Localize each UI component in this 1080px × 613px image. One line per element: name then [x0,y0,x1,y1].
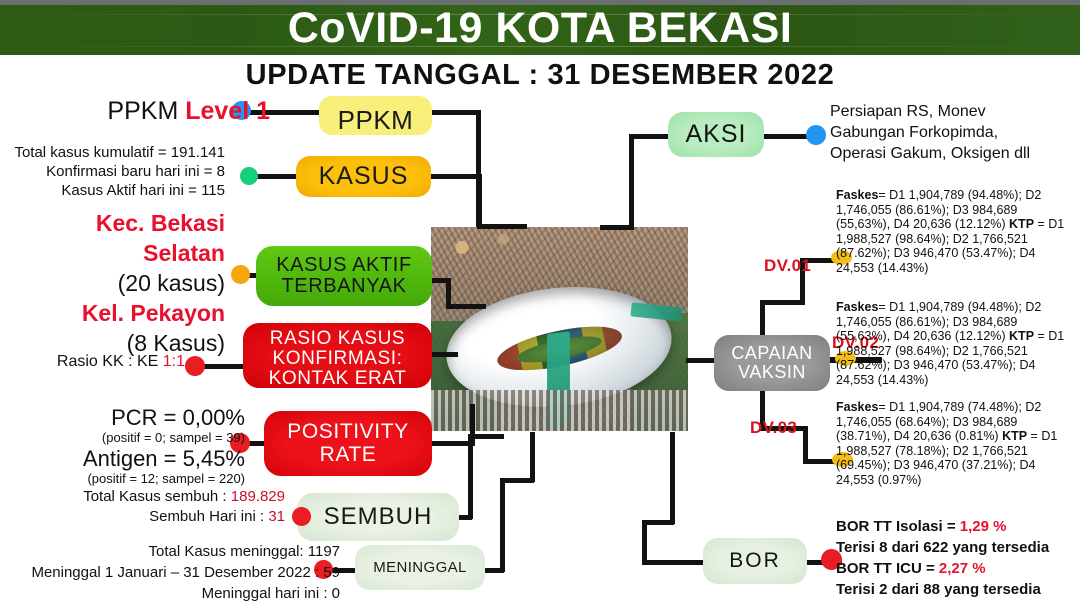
positivity-stats-block: PCR = 0,00% (positif = 0; sampel = 39) A… [10,405,245,487]
sembuh-today-label: Sembuh Hari ini : [149,508,268,525]
page-title: CoVID-19 KOTA BEKASI [0,4,1080,52]
node-sembuh[interactable]: SEMBUH [297,493,459,541]
connector-kasus-aktif-to-photo [446,304,486,309]
vaccine-faskes-heading: Faskes [836,400,878,414]
bullet-dot-aksi [806,125,826,145]
connector-bor-to-photo [670,432,675,524]
aksi-detail-block: Persiapan RS, Monev Gabungan Forkopimda,… [830,101,1080,164]
vaccine-faskes-heading: Faskes [836,188,878,202]
sembuh-total-line: Total Kasus sembuh : 189.829 [10,487,285,507]
sembuh-total-value: 189.829 [231,488,285,505]
meninggal-stats-block: Total Kasus meninggal: 1197 Meninggal 1 … [10,541,340,604]
bor-icu-label: BOR TT ICU = [836,560,939,577]
connector-aksi-left [629,134,672,139]
ppkm-prefix-text: PPKM [107,97,185,125]
bor-isolasi-value: 1,29 % [960,518,1007,535]
connector-bor-up [642,520,647,565]
node-positivity-rate[interactable]: POSITIVITY RATE [264,411,432,476]
connector-rasio [198,364,246,369]
sembuh-today-value: 31 [268,508,285,525]
node-capaian-vaksin[interactable]: CAPAIAN VAKSIN [714,335,830,391]
connector-kasus-down [477,174,482,229]
node-kasus-aktif-terbanyak[interactable]: KASUS AKTIF TERBANYAK [256,246,432,306]
node-bor[interactable]: BOR [703,538,807,584]
kasus-stat-line: Total kasus kumulatif = 191.141 [10,143,225,162]
bullet-dot-kasus [240,167,258,185]
rasio-value: 1:1 [163,353,185,370]
kecamatan-name: Kec. Bekasi Selatan [10,208,225,268]
node-kasus[interactable]: KASUS [296,156,431,197]
aksi-detail-line: Gabungan Forkopimda, [830,122,1080,143]
connector-sembuh-to-photo [468,434,504,439]
sembuh-stats-block: Total Kasus sembuh : 189.829 Sembuh Hari… [10,487,285,527]
connector-meninggal-elbow [500,478,534,483]
stadium-aerial-photo [431,227,688,431]
connector-ppkm-right [430,110,480,115]
pcr-label: PCR = 0,00% [10,405,245,430]
bor-detail-block: BOR TT Isolasi = 1,29 % Terisi 8 dari 62… [836,516,1080,600]
sembuh-today-line: Sembuh Hari ini : 31 [10,507,285,527]
connector-sembuh-up [468,434,473,519]
connector-aksi-to-photo [600,225,634,230]
node-ppkm[interactable]: PPKM [319,96,432,135]
vaccine-ktp-heading: KTP [1009,217,1034,231]
connector-dv01-up [760,300,765,338]
connector-meninggal-to-photo [530,432,535,482]
vaccine-block-dv02: Faskes= D1 1,904,789 (94.48%); D2 1,746,… [836,300,1066,387]
update-date-subtitle: UPDATE TANGGAL : 31 DESEMBER 2022 [0,58,1080,92]
vaccine-block-dv01: Faskes= D1 1,904,789 (94.48%); D2 1,746,… [836,188,1066,275]
aksi-detail-line: Persiapan RS, Monev [830,101,1080,122]
connector-kasus-into-photo [477,224,527,229]
dv03-label: DV.03 [750,418,797,438]
connector-kasus [253,174,298,179]
dv01-label: DV.01 [764,256,811,276]
vaccine-block-dv03: Faskes= D1 1,904,789 (74.48%); D2 1,746,… [836,400,1066,487]
rasio-kk-ke-label: Rasio KK : KE 1:1 [10,352,185,372]
aksi-detail-line: Operasi Gakum, Oksigen dll [830,143,1080,164]
kasus-stats-block: Total kasus kumulatif = 191.141 Konfirma… [10,143,225,200]
bor-icu-value: 2,27 % [939,560,986,577]
bor-isolasi-line: BOR TT Isolasi = 1,29 % [836,516,1080,537]
kasus-aktif-location-block: Kec. Bekasi Selatan (20 kasus) Kel. Peka… [10,208,225,358]
antigen-label: Antigen = 5,45% [10,446,245,471]
infographic-canvas: CoVID-19 KOTA BEKASI UPDATE TANGGAL : 31… [0,0,1080,613]
sembuh-total-label: Total Kasus sembuh : [83,488,231,505]
connector-bor-left [642,560,704,565]
vaccine-faskes-heading: Faskes [836,300,878,314]
antigen-sample-detail: (positif = 12; sampel = 220) [10,471,245,487]
kelurahan-name: Kel. Pekayon [10,298,225,328]
meninggal-period-line: Meninggal 1 Januari – 31 Desember 2022 :… [10,562,340,583]
kasus-stat-line: Kasus Aktif hari ini = 115 [10,181,225,200]
connector-aksi-down [629,134,634,229]
bor-icu-line: BOR TT ICU = 2,27 % [836,558,1080,579]
vaccine-ktp-heading: KTP [1009,329,1034,343]
bor-isolasi-label: BOR TT Isolasi = [836,518,960,535]
pcr-sample-detail: (positif = 0; sampel = 39) [10,430,245,446]
meninggal-total-line: Total Kasus meninggal: 1197 [10,541,340,562]
node-rasio-kasus-konfirmasi[interactable]: RASIO KASUS KONFIRMASI: KONTAK ERAT [243,323,432,388]
bor-isolasi-detail: Terisi 8 dari 622 yang tersedia [836,537,1080,558]
bullet-dot-rasio [185,356,205,376]
connector-meninggal-up [500,478,505,572]
node-aksi[interactable]: AKSI [668,112,764,157]
meninggal-today-line: Meninggal hari ini : 0 [10,583,340,604]
ppkm-level-label: PPKM Level 1 [60,96,270,126]
connector-aksi-right [762,134,812,139]
vaccine-ktp-heading: KTP [1002,429,1027,443]
kasus-stat-line: Konfirmasi baru hari ini = 8 [10,162,225,181]
rasio-prefix-text: Rasio KK : KE [57,353,163,370]
node-meninggal[interactable]: MENINGGAL [355,545,485,590]
ppkm-level-value: Level 1 [185,97,270,125]
bullet-dot-sembuh [292,507,311,526]
kecamatan-case-count: (20 kasus) [10,268,225,298]
connector-dv01-right [760,300,805,305]
bor-icu-detail: Terisi 2 dari 88 yang tersedia [836,579,1080,600]
connector-rasio-right [428,352,458,357]
bullet-dot-kasus-aktif [231,265,250,284]
connector-kasus-right [429,174,481,179]
